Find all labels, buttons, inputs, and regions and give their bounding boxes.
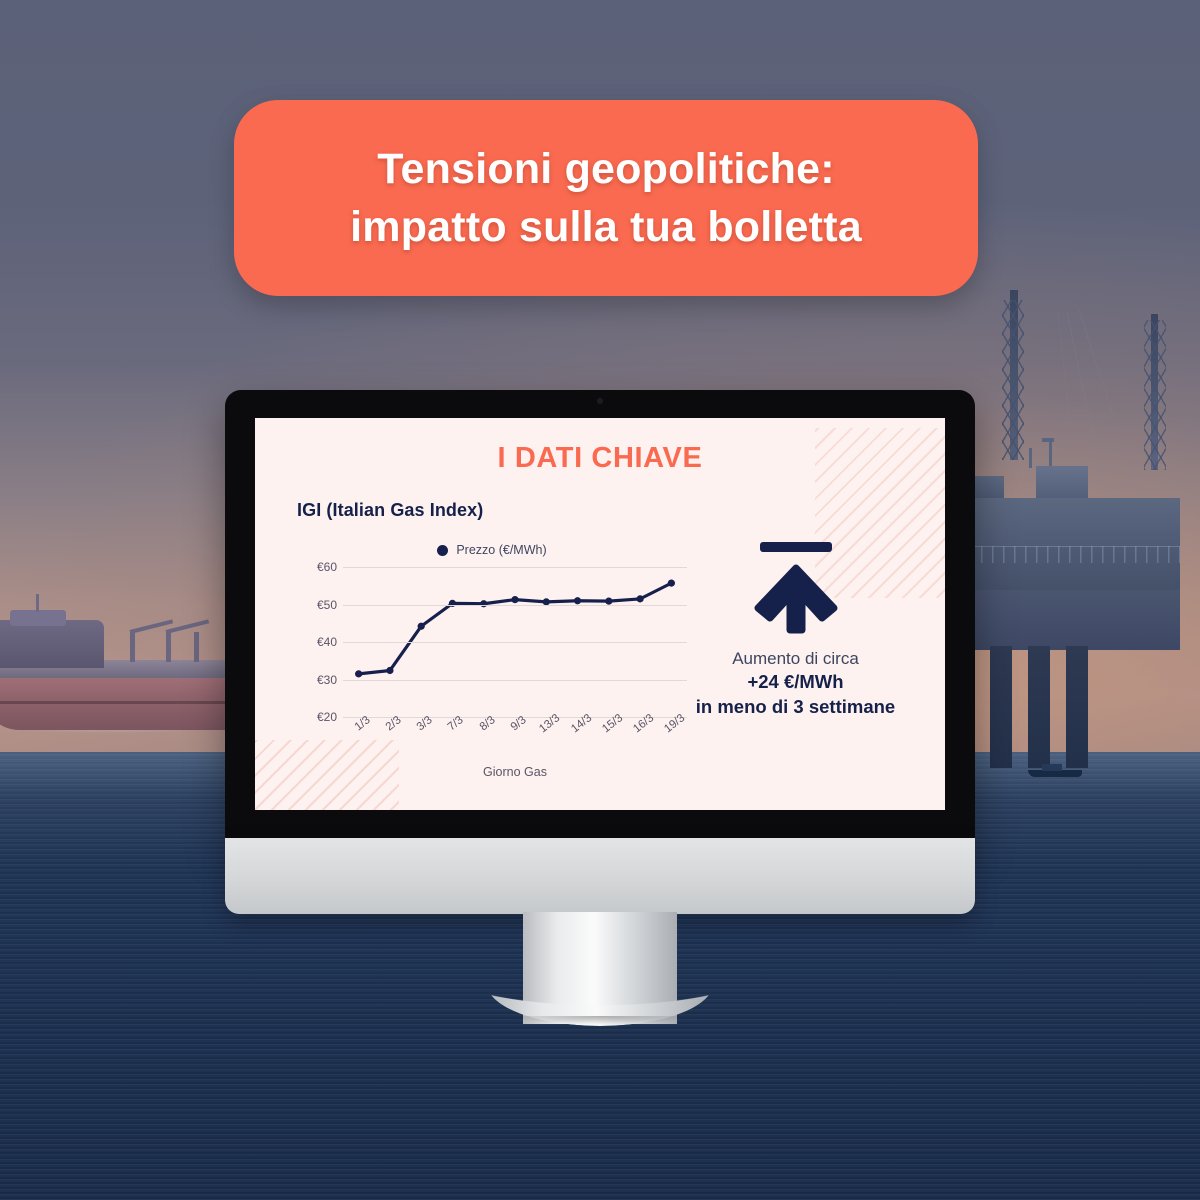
increase-value: +24 €/MWh — [688, 670, 903, 695]
screenshot-canvas: Tensioni geopolitiche: impatto sulla tua… — [0, 0, 1200, 1200]
rig-leg — [1066, 646, 1088, 768]
tanker-ship — [0, 600, 250, 730]
rig-derrick-lattice — [1002, 300, 1024, 460]
increase-timeframe: in meno di 3 settimane — [688, 695, 903, 720]
monitor-chin — [225, 838, 975, 914]
chart-legend: Prezzo (€/MWh) — [297, 543, 687, 557]
rig-pole — [1049, 442, 1052, 468]
chart-gridline — [343, 642, 687, 643]
monitor-stand — [523, 912, 677, 1024]
ship-mast — [36, 594, 39, 612]
chart-gridline — [343, 567, 687, 568]
chart-plot — [343, 567, 687, 717]
y-tick-label: €30 — [317, 673, 337, 687]
monitor-bezel: I DATI CHIAVE IGI (Italian Gas Index) Pr… — [225, 390, 975, 840]
ship-bridge — [10, 610, 66, 626]
headline-line-1: Tensioni geopolitiche: — [377, 143, 835, 195]
data-point-marker — [668, 580, 675, 587]
x-tick-label: 3/3 — [415, 714, 435, 733]
rig-lower-deck — [948, 590, 1180, 650]
headline-bubble: Tensioni geopolitiche: impatto sulla tua… — [234, 100, 978, 296]
data-point-marker — [511, 596, 518, 603]
monitor-stand-shadow — [470, 1016, 730, 1028]
x-tick-label: 9/3 — [509, 714, 529, 733]
oil-rig-platform — [940, 290, 1200, 790]
ship-crane — [166, 632, 171, 662]
monitor-screen: I DATI CHIAVE IGI (Italian Gas Index) Pr… — [255, 418, 945, 810]
rig-pole — [1029, 448, 1032, 468]
ship-crane — [194, 632, 199, 662]
data-point-marker — [636, 595, 643, 602]
chart-x-axis-title: Giorno Gas — [343, 765, 687, 779]
ship-crane — [130, 632, 135, 662]
chart-title: IGI (Italian Gas Index) — [297, 500, 687, 521]
ship-hull-stripe — [0, 701, 236, 704]
y-tick-label: €40 — [317, 635, 337, 649]
data-point-marker — [418, 623, 425, 630]
legend-marker-icon — [437, 545, 448, 556]
data-point-marker — [386, 667, 393, 674]
boat-hull — [1028, 770, 1082, 777]
x-tick-label: 8/3 — [477, 714, 497, 733]
rig-antenna-lattice — [1144, 320, 1166, 470]
rig-railing — [948, 546, 1180, 563]
chart-gridline — [343, 680, 687, 681]
presentation-slide: I DATI CHIAVE IGI (Italian Gas Index) Pr… — [255, 418, 945, 810]
increase-callout: Aumento di circa +24 €/MWh in meno di 3 … — [688, 538, 903, 720]
chart-gridline — [343, 605, 687, 606]
chart-y-axis-labels: €20€30€40€50€60 — [297, 567, 337, 717]
data-point-marker — [355, 670, 362, 677]
chart-x-axis-labels: 1/32/33/37/38/39/313/314/315/316/319/3 — [343, 717, 687, 761]
y-tick-label: €20 — [317, 710, 337, 724]
y-tick-label: €50 — [317, 598, 337, 612]
legend-label: Prezzo (€/MWh) — [456, 543, 546, 557]
igi-line-chart: IGI (Italian Gas Index) Prezzo (€/MWh) €… — [297, 500, 687, 779]
increase-caption: Aumento di circa — [688, 648, 903, 670]
headline-line-2: impatto sulla tua bolletta — [350, 201, 862, 253]
slide-title: I DATI CHIAVE — [255, 442, 945, 475]
rig-leg — [990, 646, 1012, 768]
rig-lamp — [1042, 438, 1054, 442]
rig-leg — [1028, 646, 1050, 768]
ship-superstructure — [0, 620, 104, 668]
x-tick-label: 7/3 — [446, 714, 466, 733]
x-tick-label: 2/3 — [384, 714, 404, 733]
boat-cabin — [1042, 764, 1062, 771]
data-point-marker — [574, 597, 581, 604]
small-boat — [1028, 764, 1082, 777]
price-series-markers — [355, 580, 675, 678]
chart-plot-area: €20€30€40€50€60 — [297, 567, 687, 717]
data-point-marker — [449, 600, 456, 607]
x-tick-label: 1/3 — [352, 714, 372, 733]
y-tick-label: €60 — [317, 560, 337, 574]
desktop-monitor: I DATI CHIAVE IGI (Italian Gas Index) Pr… — [225, 390, 975, 1020]
webcam-icon — [597, 398, 603, 404]
arrow-up-icon — [750, 538, 842, 634]
